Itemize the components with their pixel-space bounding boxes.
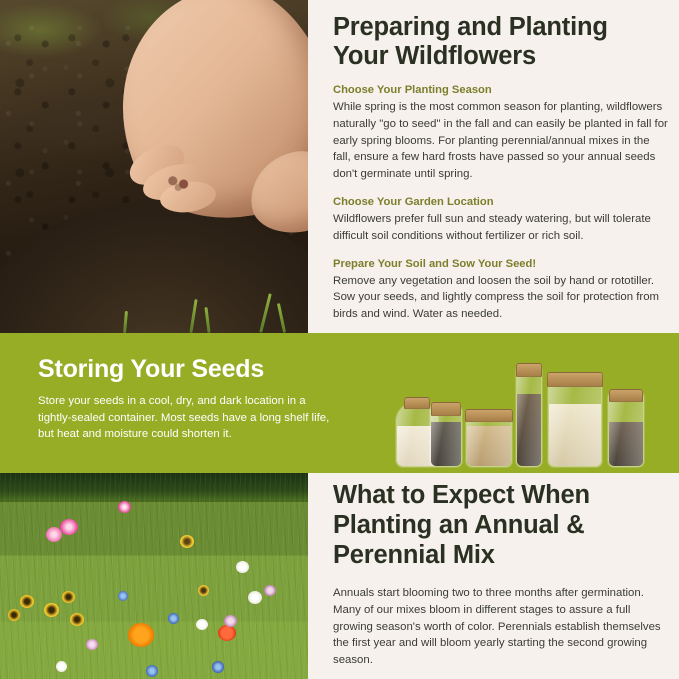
section-what-to-expect: What to Expect When Planting an Annual &… (0, 473, 679, 679)
infographic-page: Preparing and Planting Your Wildflowers … (0, 0, 679, 679)
subheading-prepare-soil: Prepare Your Soil and Sow Your Seed! (333, 245, 669, 272)
flower-pink-cosmos (60, 519, 78, 535)
heading-what-to-expect: What to Expect When Planting an Annual &… (333, 473, 669, 570)
flower-pink-cosmos (46, 527, 62, 542)
cork-stopper (609, 389, 643, 402)
subheading-planting-season: Choose Your Planting Season (333, 71, 669, 98)
flower-yellow (44, 603, 59, 617)
flower-yellow (198, 585, 209, 596)
flower-yellow (62, 591, 75, 603)
jar-glass (549, 378, 601, 466)
flower-mauve (264, 585, 276, 596)
jar-glass (431, 408, 461, 466)
subheading-garden-location: Choose Your Garden Location (333, 183, 669, 210)
photo-wildflower-meadow (0, 473, 308, 679)
seeds-in-hand (162, 172, 198, 194)
photo-jars-of-seeds (390, 333, 679, 473)
cork-stopper (516, 363, 542, 377)
flower-yellow (70, 613, 84, 626)
flower-white-daisy (248, 591, 262, 604)
seed-jar (608, 393, 644, 467)
section-preparing-and-planting: Preparing and Planting Your Wildflowers … (0, 0, 679, 333)
heading-storing-your-seeds: Storing Your Seeds (38, 355, 338, 384)
cork-stopper (465, 409, 513, 422)
seed-jar (516, 367, 542, 467)
flower-blue-cornflower (146, 665, 158, 677)
flower-yellow (8, 609, 20, 621)
section-storing-your-seeds: Storing Your Seeds Store your seeds in a… (0, 333, 679, 473)
photo-hand-planting-seeds (0, 0, 308, 333)
flower-blue-cornflower (168, 613, 179, 624)
page-title-preparing: Preparing and Planting Your Wildflowers (333, 0, 669, 71)
jar-glass (517, 368, 541, 466)
cork-stopper (547, 372, 603, 387)
flower-mauve (224, 615, 237, 627)
flower-white-daisy (56, 661, 67, 672)
seed-jar (430, 407, 462, 467)
cork-stopper (431, 402, 461, 416)
what-to-expect-text-column: What to Expect When Planting an Annual &… (333, 473, 669, 679)
flower-yellow (180, 535, 194, 548)
paragraph-storing-your-seeds: Store your seeds in a cool, dry, and dar… (38, 384, 338, 443)
jar-glass (609, 394, 643, 466)
flower-pink-cosmos (118, 501, 131, 513)
flower-yellow (20, 595, 34, 608)
flower-blue-cornflower (212, 661, 224, 673)
paragraph-planting-season: While spring is the most common season f… (333, 98, 669, 183)
paragraph-what-to-expect: Annuals start blooming two to three mont… (333, 570, 669, 669)
paragraph-garden-location: Wildflowers prefer full sun and steady w… (333, 210, 669, 245)
flower-white-daisy (196, 619, 208, 630)
flower-blue-cornflower (118, 591, 128, 601)
flower-red-poppy (218, 625, 236, 641)
preparing-text-column: Preparing and Planting Your Wildflowers … (333, 0, 669, 333)
seed-jar (548, 377, 602, 467)
paragraph-prepare-soil: Remove any vegetation and loosen the soi… (333, 272, 669, 323)
cork-stopper (404, 397, 430, 409)
flower-mauve (86, 639, 98, 650)
storing-text-column: Storing Your Seeds Store your seeds in a… (38, 355, 338, 443)
flower-orange-poppy (128, 623, 154, 647)
meadow-grass-texture (0, 473, 308, 679)
flower-white-daisy (236, 561, 249, 573)
